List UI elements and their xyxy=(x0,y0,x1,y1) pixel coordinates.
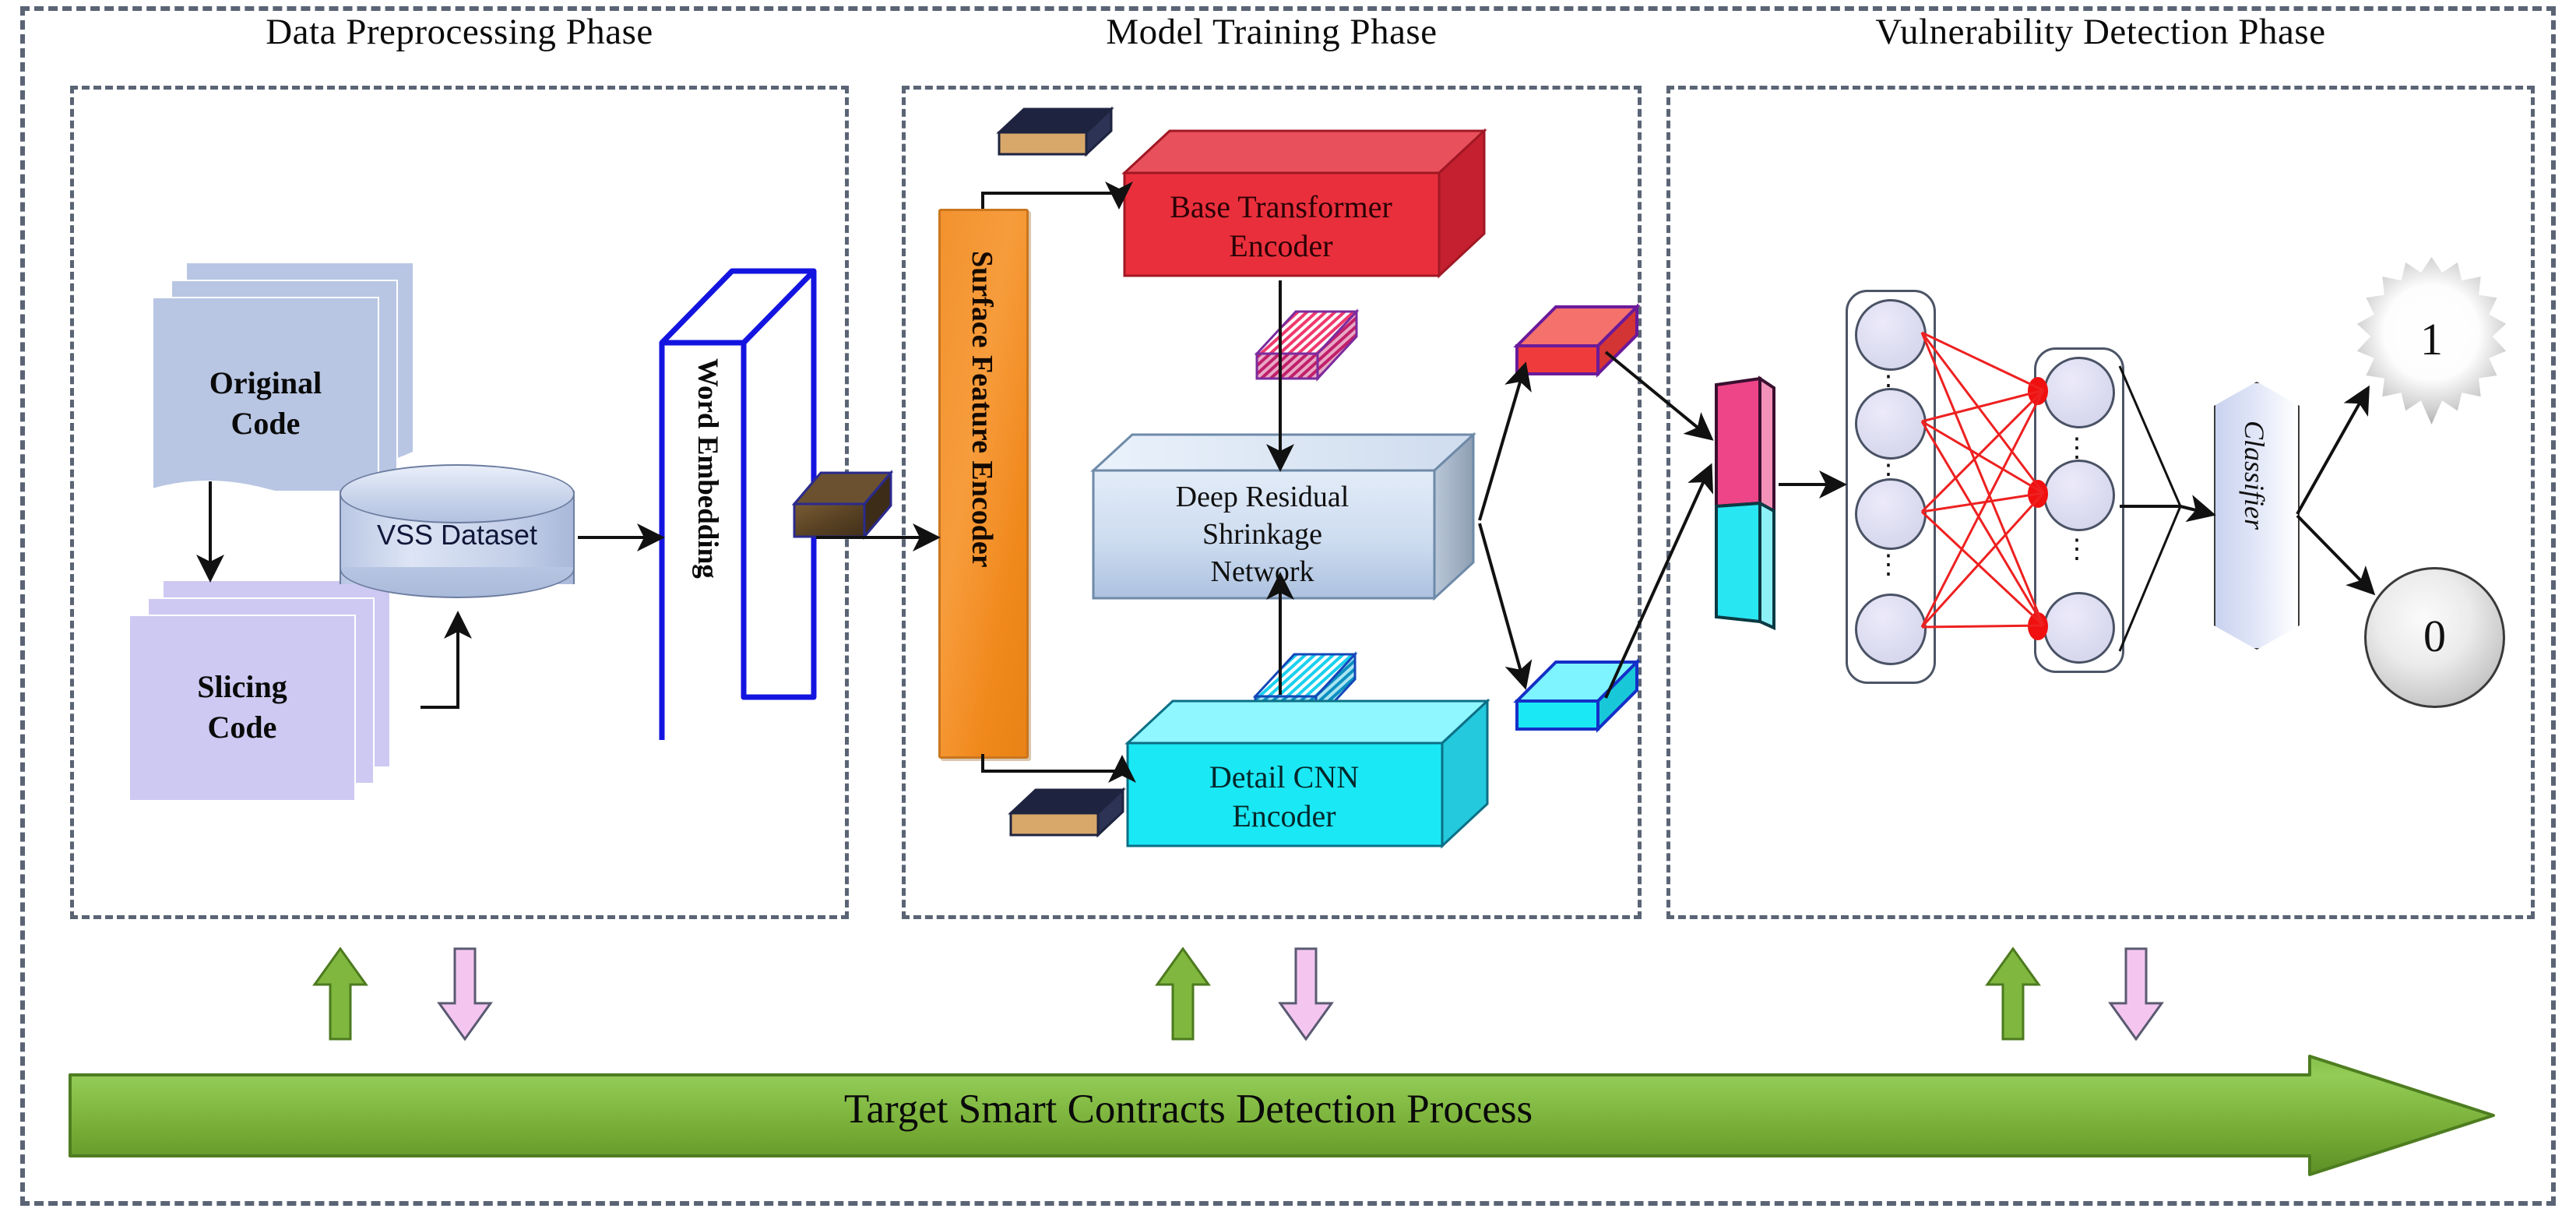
surface-feature-encoder-label: Surface Feature Encoder xyxy=(965,251,999,568)
surface-token-bar-bottom-icon xyxy=(1005,782,1129,843)
word-embedding-label: Word Embedding xyxy=(691,358,724,579)
output-vulnerable-label: 1 xyxy=(2348,313,2515,365)
original-code-label-line2: Code xyxy=(153,407,378,442)
phase-title-model-training: Model Training Phase xyxy=(902,11,1642,53)
architecture-diagram: Data Preprocessing Phase Model Training … xyxy=(0,0,2576,1212)
nn-hidden-dots-1: ⋮ xyxy=(2043,441,2110,456)
detail-cnn-encoder: Detail CNN Encoder xyxy=(1124,695,1490,851)
drsn-label-line3: Network xyxy=(1089,555,1436,589)
nn-hidden-neuron-3 xyxy=(2043,592,2115,664)
nn-input-neuron-4 xyxy=(1855,594,1927,665)
nn-hidden-dots-2: ⋮ xyxy=(2043,542,2110,557)
up-arrow-phase-3 xyxy=(1984,947,2042,1041)
nn-activation-marker-3 xyxy=(2028,612,2048,640)
down-arrow-phase-2 xyxy=(1277,947,1335,1041)
detail-cnn-encoder-label-line1: Detail CNN xyxy=(1124,759,1444,795)
nn-input-dots-3: ⋮ xyxy=(1855,558,1922,573)
deep-residual-shrinkage-network: Deep Residual Shrinkage Network xyxy=(1089,428,1478,608)
fused-feature-vector xyxy=(1712,374,1779,631)
nn-input-neuron-3 xyxy=(1855,478,1927,550)
slicing-code-label-line1: Slicing xyxy=(129,670,355,705)
original-code-label-line1: Original xyxy=(153,366,378,401)
up-arrow-phase-1 xyxy=(311,947,369,1041)
slicing-code-label-line2: Code xyxy=(129,710,355,745)
classifier-label: Classifier xyxy=(2238,421,2271,530)
vss-dataset-label: VSS Dataset xyxy=(336,519,578,551)
nn-hidden-neuron-2 xyxy=(2043,460,2115,531)
surface-token-bar-top-icon xyxy=(993,101,1117,162)
surface-feature-vector-icon xyxy=(1511,298,1643,383)
output-safe-circle: 0 xyxy=(2364,567,2505,708)
phase-title-data-preprocessing: Data Preprocessing Phase xyxy=(70,11,849,53)
nn-input-neuron-1 xyxy=(1855,299,1927,371)
embedding-vector-bar-icon xyxy=(780,456,897,549)
nn-input-neuron-2 xyxy=(1855,388,1927,460)
process-banner-arrow: Target Smart Contracts Detection Process xyxy=(67,1053,2497,1178)
nn-activation-marker-1 xyxy=(2028,377,2048,405)
drsn-label-line1: Deep Residual xyxy=(1089,480,1436,514)
vss-dataset-cylinder: VSS Dataset xyxy=(336,461,578,617)
base-transformer-encoder: Base Transformer Encoder xyxy=(1121,125,1487,280)
down-arrow-phase-3 xyxy=(2107,947,2165,1041)
nn-hidden-neuron-1 xyxy=(2043,357,2115,428)
drsn-label-line2: Shrinkage xyxy=(1089,517,1436,551)
down-arrow-phase-1 xyxy=(436,947,494,1041)
original-code-stack: Original Code xyxy=(140,257,421,491)
transformer-feature-stripe-icon xyxy=(1252,301,1361,386)
detail-feature-vector-icon xyxy=(1511,653,1643,738)
process-banner-label: Target Smart Contracts Detection Process xyxy=(67,1086,2310,1133)
up-arrow-phase-2 xyxy=(1154,947,1212,1041)
detail-cnn-encoder-label-line2: Encoder xyxy=(1124,798,1444,834)
base-transformer-encoder-label-line1: Base Transformer xyxy=(1121,188,1441,225)
nn-activation-marker-2 xyxy=(2028,480,2048,508)
phase-title-vulnerability-detection: Vulnerability Detection Phase xyxy=(1666,11,2535,53)
base-transformer-encoder-label-line2: Encoder xyxy=(1121,227,1441,264)
output-safe-label: 0 xyxy=(2367,610,2503,662)
